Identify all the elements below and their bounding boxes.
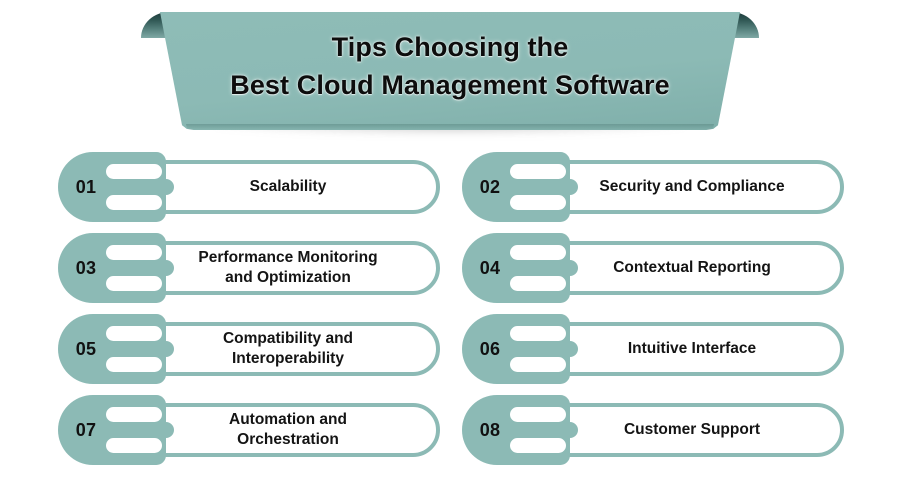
list-item-label-line-1: Intuitive Interface <box>628 340 756 357</box>
list-item-number: 05 <box>58 314 114 384</box>
list-item-label-line-1: Security and Compliance <box>599 178 784 195</box>
list-item[interactable]: 06 Intuitive Interface <box>462 314 844 384</box>
list-item-label-line-2: Orchestration <box>229 430 347 450</box>
list-item-label: Scalability <box>143 160 433 214</box>
list-item[interactable]: 05 Compatibility and Interoperability <box>58 314 440 384</box>
list-item-label: Security and Compliance <box>547 160 837 214</box>
list-item-number: 04 <box>462 233 518 303</box>
list-item-label-line-1: Scalability <box>250 178 327 195</box>
list-item-label: Contextual Reporting <box>547 241 837 295</box>
list-item-number: 07 <box>58 395 114 465</box>
list-item-label: Compatibility and Interoperability <box>143 322 433 376</box>
page-title-line-2: Best Cloud Management Software <box>160 66 740 104</box>
page-title: Tips Choosing the Best Cloud Management … <box>160 28 740 104</box>
list-item-label: Automation and Orchestration <box>143 403 433 457</box>
list-item-label: Customer Support <box>547 403 837 457</box>
list-item[interactable]: 04 Contextual Reporting <box>462 233 844 303</box>
list-item-label-line-1: Performance Monitoring <box>198 249 377 266</box>
list-item-label-line-1: Contextual Reporting <box>613 259 771 276</box>
list-item-label: Intuitive Interface <box>547 322 837 376</box>
list-item-number: 02 <box>462 152 518 222</box>
banner-bottom-edge <box>186 124 714 130</box>
list-item-label-line-1: Compatibility and <box>223 330 353 347</box>
header-banner: Tips Choosing the Best Cloud Management … <box>0 0 900 150</box>
list-item-number: 06 <box>462 314 518 384</box>
list-item-label: Performance Monitoring and Optimization <box>143 241 433 295</box>
tips-column-right: 02 Security and Compliance 04 Conte <box>462 152 852 476</box>
list-item-number: 03 <box>58 233 114 303</box>
list-item-label-line-1: Automation and <box>229 411 347 428</box>
list-item[interactable]: 07 Automation and Orchestration <box>58 395 440 465</box>
tips-column-left: 01 Scalability 03 Performance Monit <box>58 152 448 476</box>
list-item-number: 01 <box>58 152 114 222</box>
list-item-label-line-2: Interoperability <box>223 349 353 369</box>
list-item[interactable]: 08 Customer Support <box>462 395 844 465</box>
list-item[interactable]: 01 Scalability <box>58 152 440 222</box>
list-item-label-line-2: and Optimization <box>198 268 377 288</box>
page-title-line-1: Tips Choosing the <box>160 28 740 66</box>
list-item[interactable]: 03 Performance Monitoring and Optimizati… <box>58 233 440 303</box>
list-item-number: 08 <box>462 395 518 465</box>
list-item[interactable]: 02 Security and Compliance <box>462 152 844 222</box>
list-item-label-line-1: Customer Support <box>624 421 760 438</box>
infographic-canvas: Tips Choosing the Best Cloud Management … <box>0 0 900 500</box>
